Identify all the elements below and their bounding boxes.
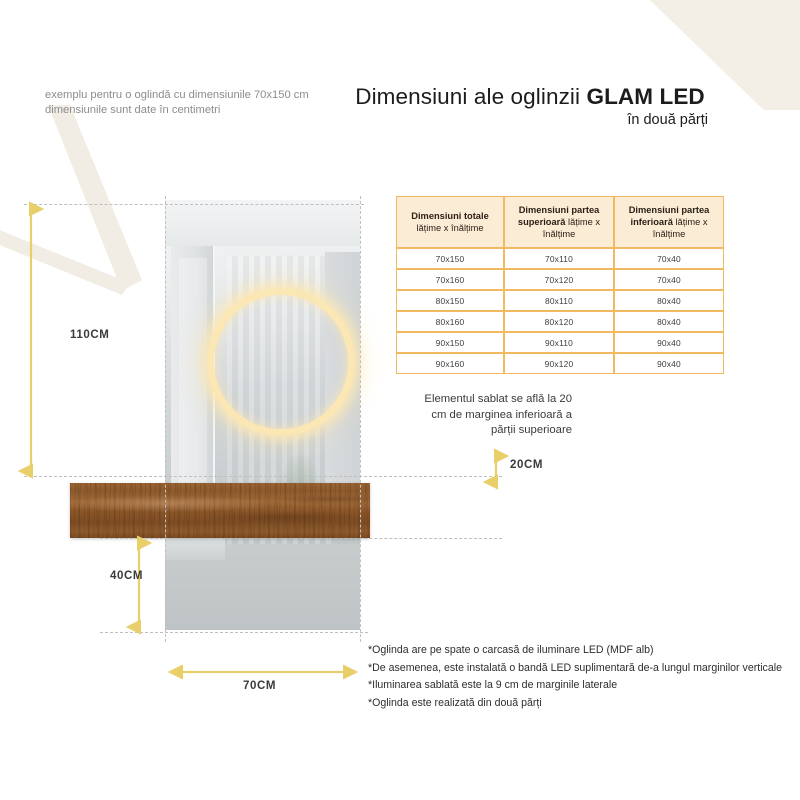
wood-grain-texture — [70, 483, 370, 538]
footnote-item: *Iluminarea sablată este la 9 cm de marg… — [368, 677, 788, 695]
guide-line-left-edge — [165, 196, 166, 642]
table-row: 70x150 70x110 70x40 — [396, 248, 724, 269]
title-main-line: Dimensiuni ale oglinzii GLAM LED — [330, 84, 730, 110]
table-header-total-bold: Dimensiuni totale — [411, 211, 489, 221]
dimension-label-gap: 20CM — [510, 459, 543, 471]
guide-line-top — [24, 204, 364, 205]
cell-total: 80x160 — [396, 311, 504, 332]
table-header-total: Dimensiuni totale lățime x înălțime — [396, 196, 504, 248]
cell-upper: 70x120 — [504, 269, 614, 290]
cell-lower: 80x40 — [614, 290, 724, 311]
table-head: Dimensiuni totale lățime x înălțime Dime… — [396, 196, 724, 248]
guide-line-mid-lower — [100, 538, 502, 539]
title-prefix: Dimensiuni ale oglinzii — [355, 84, 586, 109]
sandblast-note-line-2: cm de marginea inferioară a — [392, 408, 572, 424]
table-row: 80x150 80x110 80x40 — [396, 290, 724, 311]
cell-upper: 70x110 — [504, 248, 614, 269]
example-note-line-2: dimensiunile sunt date în centimetri — [45, 103, 320, 118]
cell-total: 70x150 — [396, 248, 504, 269]
guide-line-right-edge — [360, 196, 361, 642]
table-header-total-rest: lățime x înălțime — [416, 223, 483, 233]
title-subtitle: în două părți — [330, 112, 730, 128]
reflection-ceiling — [165, 200, 360, 246]
dimension-label-height-upper: 110CM — [70, 329, 109, 341]
example-note-line-1: exemplu pentru o oglindă cu dimensiunile… — [45, 88, 320, 103]
table-row: 90x150 90x110 90x40 — [396, 332, 724, 353]
sandblast-note-line-1: Elementul sablat se află la 20 — [392, 392, 572, 408]
footnote-item: *Oglinda este realizată din două părți — [368, 695, 788, 713]
reflection-door-left-inner — [179, 258, 207, 503]
infographic-canvas: exemplu pentru o oglindă cu dimensiunile… — [0, 0, 800, 800]
cell-lower: 90x40 — [614, 332, 724, 353]
cell-lower: 90x40 — [614, 353, 724, 374]
table-header-lower: Dimensiuni partea inferioară lățime x în… — [614, 196, 724, 248]
cell-total: 90x160 — [396, 353, 504, 374]
table-row: 80x160 80x120 80x40 — [396, 311, 724, 332]
cell-upper: 80x120 — [504, 311, 614, 332]
cell-total: 70x160 — [396, 269, 504, 290]
table-header-upper-pre: Dimensiuni partea — [519, 205, 600, 215]
table-header-upper-bold: superioară — [518, 217, 566, 227]
title-brand: GLAM LED — [586, 84, 704, 109]
sandblast-note-line-3: părții superioare — [392, 423, 572, 439]
table-header-lower-bold: inferioară — [631, 217, 673, 227]
guide-line-mid-upper — [24, 476, 502, 477]
cell-lower: 80x40 — [614, 311, 724, 332]
table-header-lower-pre: Dimensiuni partea — [629, 205, 710, 215]
cell-lower: 70x40 — [614, 269, 724, 290]
example-note: exemplu pentru o oglindă cu dimensiunile… — [45, 88, 320, 118]
table-row: 90x160 90x120 90x40 — [396, 353, 724, 374]
dimensions-table: Dimensiuni totale lățime x înălțime Dime… — [396, 196, 724, 374]
footnotes-list: *Oglinda are pe spate o carcasă de ilumi… — [368, 642, 788, 712]
footnote-item: *De asemenea, este instalată o bandă LED… — [368, 660, 788, 678]
footnote-item: *Oglinda are pe spate o carcasă de ilumi… — [368, 642, 788, 660]
table-body: 70x150 70x110 70x40 70x160 70x120 70x40 … — [396, 248, 724, 374]
dimension-label-width: 70CM — [243, 680, 276, 692]
cell-total: 80x150 — [396, 290, 504, 311]
table-header-row: Dimensiuni totale lățime x înălțime Dime… — [396, 196, 724, 248]
cell-lower: 70x40 — [614, 248, 724, 269]
cell-total: 90x150 — [396, 332, 504, 353]
cell-upper: 90x120 — [504, 353, 614, 374]
sandblast-note: Elementul sablat se află la 20 cm de mar… — [392, 392, 572, 439]
cell-upper: 90x110 — [504, 332, 614, 353]
decorative-chevron-shape-left — [0, 105, 180, 300]
led-ring-icon — [207, 288, 355, 436]
page-title: Dimensiuni ale oglinzii GLAM LED în două… — [330, 84, 730, 128]
table-header-upper: Dimensiuni partea superioară lățime x în… — [504, 196, 614, 248]
wood-panel — [70, 483, 370, 538]
dimension-label-height-lower: 40CM — [110, 570, 143, 582]
table-row: 70x160 70x120 70x40 — [396, 269, 724, 290]
cell-upper: 80x110 — [504, 290, 614, 311]
guide-line-bottom — [100, 632, 368, 633]
